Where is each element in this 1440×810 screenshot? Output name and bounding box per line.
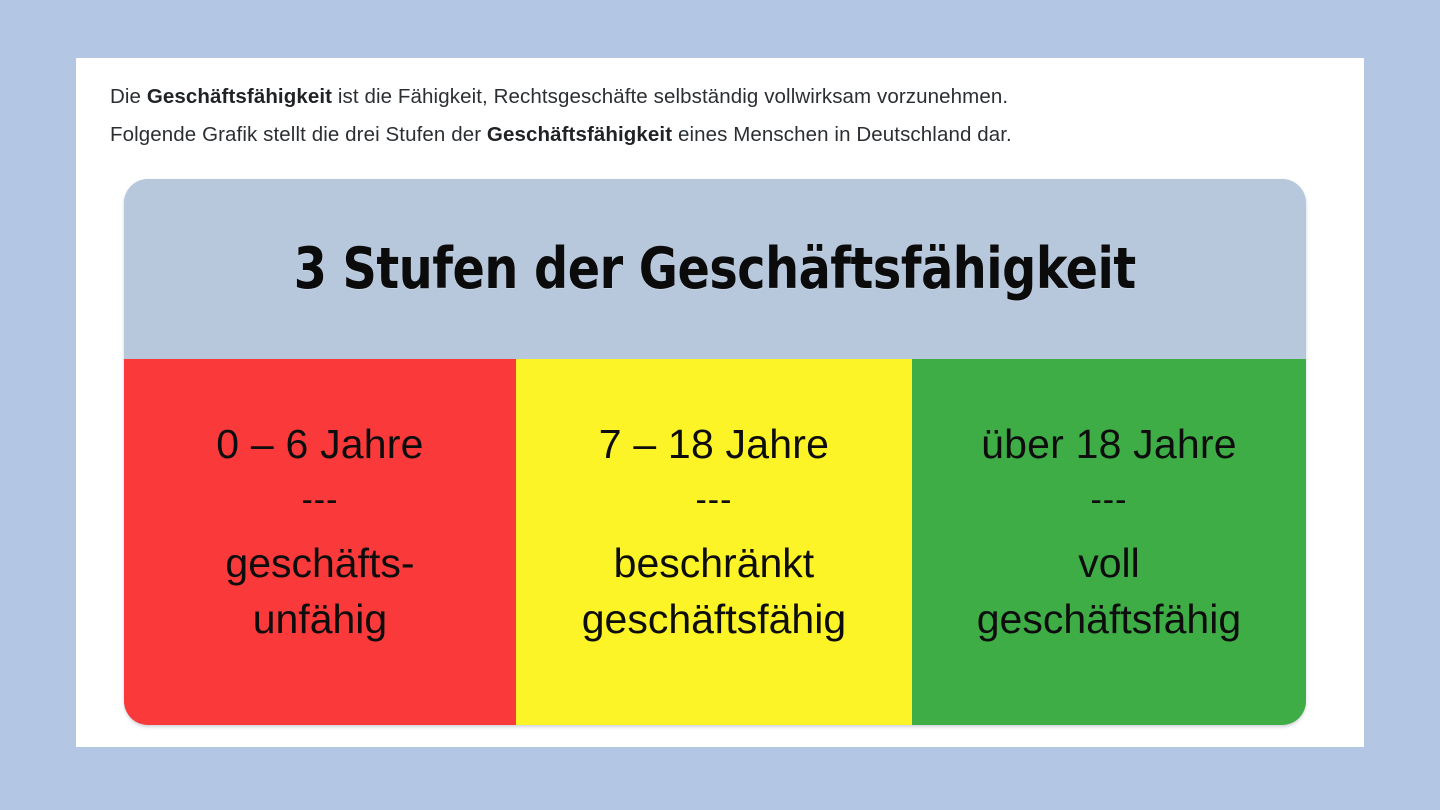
status-label-line-1: voll xyxy=(977,535,1241,591)
separator-dashes: --- xyxy=(301,483,338,517)
intro-line-1: Die Geschäftsfähigkeit ist die Fähigkeit… xyxy=(110,78,1330,116)
stage-column-beschraenkt-geschaeftsfaehig: 7 – 18 Jahre --- beschränkt geschäftsfäh… xyxy=(516,359,912,725)
content-card: Die Geschäftsfähigkeit ist die Fähigkeit… xyxy=(76,58,1364,747)
intro-line-1-pre: Die xyxy=(110,85,147,108)
infographic-header: 3 Stufen der Geschäftsfähigkeit xyxy=(124,179,1306,359)
status-label-line-2: geschäftsfähig xyxy=(977,591,1241,647)
age-range-label: 0 – 6 Jahre xyxy=(216,421,423,467)
intro-line-2-pre: Folgende Grafik stellt die drei Stufen d… xyxy=(110,123,487,146)
stage-column-geschaeftsunfaehig: 0 – 6 Jahre --- geschäfts- unfähig xyxy=(124,359,516,725)
infographic-title: 3 Stufen der Geschäftsfähigkeit xyxy=(294,236,1136,302)
intro-line-2: Folgende Grafik stellt die drei Stufen d… xyxy=(110,116,1330,154)
stage-column-voll-geschaeftsfaehig: über 18 Jahre --- voll geschäftsfähig xyxy=(912,359,1306,725)
status-label-line-2: geschäftsfähig xyxy=(582,591,846,647)
status-label: geschäfts- unfähig xyxy=(225,535,414,647)
intro-line-1-bold: Geschäftsfähigkeit xyxy=(147,85,332,108)
status-label-line-2: unfähig xyxy=(225,591,414,647)
intro-line-2-bold: Geschäftsfähigkeit xyxy=(487,123,672,146)
infographic-card: 3 Stufen der Geschäftsfähigkeit 0 – 6 Ja… xyxy=(124,179,1306,725)
status-label-line-1: geschäfts- xyxy=(225,535,414,591)
intro-line-1-post: ist die Fähigkeit, Rechtsgeschäfte selbs… xyxy=(332,85,1008,108)
status-label-line-1: beschränkt xyxy=(582,535,846,591)
separator-dashes: --- xyxy=(1090,483,1127,517)
age-range-label: über 18 Jahre xyxy=(981,421,1237,467)
screenshot-root: Die Geschäftsfähigkeit ist die Fähigkeit… xyxy=(0,0,1440,810)
status-label: voll geschäftsfähig xyxy=(977,535,1241,647)
intro-line-2-post: eines Menschen in Deutschland dar. xyxy=(672,123,1012,146)
separator-dashes: --- xyxy=(695,483,732,517)
status-label: beschränkt geschäftsfähig xyxy=(582,535,846,647)
infographic-columns: 0 – 6 Jahre --- geschäfts- unfähig 7 – 1… xyxy=(124,359,1306,725)
age-range-label: 7 – 18 Jahre xyxy=(599,421,829,467)
intro-paragraph: Die Geschäftsfähigkeit ist die Fähigkeit… xyxy=(110,78,1330,154)
